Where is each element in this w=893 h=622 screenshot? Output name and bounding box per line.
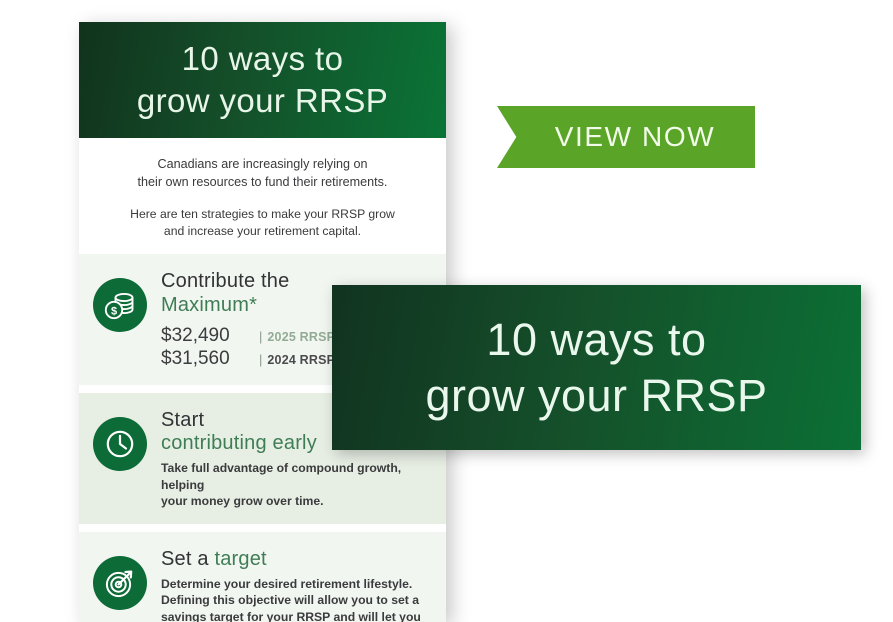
view-now-button[interactable]: VIEW NOW <box>497 106 755 168</box>
tip-card-set-a-target[interactable]: Set a target Determine your desired reti… <box>79 532 446 622</box>
tip-heading-plain: Start <box>161 409 204 431</box>
hero-panel[interactable]: 10 ways to grow your RRSP <box>332 285 861 450</box>
clock-icon <box>93 417 147 471</box>
amount-separator: | <box>259 352 262 368</box>
tip-description: Determine your desired retirement lifest… <box>161 576 430 622</box>
intro-paragraph-1: Canadians are increasingly relying on th… <box>107 156 418 192</box>
intro-paragraph-2: Here are ten strategies to make your RRS… <box>107 206 418 241</box>
tip-body: Set a target Determine your desired reti… <box>161 546 430 622</box>
amount-value: $32,490 <box>161 324 257 348</box>
tip-description: Take full advantage of compound growth, … <box>161 460 430 509</box>
amount-label: 2025 RRSP <box>267 330 335 346</box>
tip-heading-plain: Set a <box>161 548 209 570</box>
infographic-header: 10 ways to grow your RRSP <box>79 22 446 138</box>
tip-heading-accent: contributing early <box>161 432 317 454</box>
tip-heading: Set a target <box>161 548 430 571</box>
amount-separator: | <box>259 329 262 345</box>
amount-label: 2024 RRSP <box>267 353 335 369</box>
svg-text:$: $ <box>111 306 117 318</box>
tip-heading-plain: Contribute the <box>161 270 289 292</box>
coins-stack-icon: $ <box>93 278 147 332</box>
tip-heading-accent: target <box>214 548 266 570</box>
hero-panel-title: 10 ways to grow your RRSP <box>425 312 767 424</box>
intro-block: Canadians are increasingly relying on th… <box>79 138 446 254</box>
infographic-title: 10 ways to grow your RRSP <box>137 38 388 122</box>
target-arrow-icon <box>93 556 147 610</box>
amount-value: $31,560 <box>161 347 257 371</box>
tip-heading-accent: Maximum* <box>161 294 257 316</box>
